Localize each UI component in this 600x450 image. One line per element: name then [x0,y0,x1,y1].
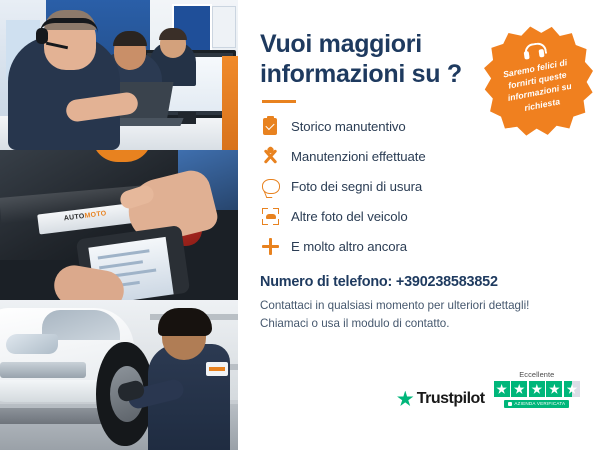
accent-underline [262,100,296,103]
phone-number[interactable]: Numero di telefono: +390238583852 [260,274,576,290]
car-grille [0,362,86,378]
star-filled [546,381,562,397]
star-filled [511,381,527,397]
verified-label: AZIENDA VERIFICATA [514,401,565,406]
trustpilot-rating-label: Eccellente [519,370,554,379]
photo-strip: AUTOMOTO [0,0,238,450]
feature-label: Foto dei segni di usura [291,179,422,194]
page-title: Vuoi maggiori informazioni su ? [260,30,470,89]
trustpilot-score-block: Eccellente AZIENDA VERIFICATA [494,370,580,408]
star-filled [529,381,545,397]
mechanic-hair [158,308,212,336]
car-headlight [6,334,58,354]
check-icon [508,402,512,406]
contact-line-1: Contattaci in qualsiasi momento per ulte… [260,299,529,312]
feature-label: Manutenzioni effettuate [291,149,426,164]
speech-bubble-icon [260,177,281,196]
headline-line-1: Vuoi maggiori [260,30,422,58]
photo-vehicle-inspection: AUTOMOTO [0,150,238,300]
list-item-manutenzioni-effettuate[interactable]: Manutenzioni effettuate [260,147,576,166]
verified-business-badge: AZIENDA VERIFICATA [504,400,569,408]
clipboard-check-icon [260,117,281,136]
uniform-logo-patch [206,362,228,376]
starburst-text: Saremo felici di fornirti queste informa… [479,52,598,121]
star-filled [494,381,510,397]
headphone-earcup-left [524,51,530,60]
starburst-content: Saremo felici di fornirti queste informa… [475,19,600,145]
trustpilot-stars [494,381,580,397]
car-bumper [0,380,102,402]
contact-text: Contattaci in qualsiasi momento per ulte… [260,297,576,333]
trustpilot-rating[interactable]: Trustpilot Eccellente AZIENDA VERIFICATA [397,370,580,408]
feature-label: E molto altro ancora [291,239,407,254]
promo-starburst-badge: Saremo felici di fornirti queste informa… [475,19,600,145]
tools-cross-icon [260,147,281,166]
list-item-altre-foto-veicolo[interactable]: Altre foto del veicolo [260,207,576,226]
headphone-icon [522,42,546,61]
photo-call-center [0,0,238,150]
wall-poster-small [212,6,236,48]
sticker-label: AUTOMOTO [63,210,107,222]
screen-line [98,249,150,259]
trustpilot-star-icon [397,391,414,408]
feature-label: Altre foto del veicolo [291,209,408,224]
content-panel: Vuoi maggiori informazioni su ? Saremo f… [238,0,600,450]
list-item-molto-altro-ancora[interactable]: E molto altro ancora [260,237,576,256]
trustpilot-logo: Trustpilot [397,390,485,408]
plus-icon [260,237,281,256]
star-half [564,381,580,397]
screen-line [99,260,143,269]
info-request-banner: AUTOMOTO [0,0,600,450]
headline-line-2: informazioni su ? [260,60,462,88]
headset-band-icon [40,18,98,33]
feature-label: Storico manutentivo [291,119,406,134]
orange-equipment [222,56,238,150]
scan-car-icon [260,207,281,226]
trustpilot-brand-name: Trustpilot [417,390,485,408]
contact-line-2: Chiamaci o usa il modulo di contatto. [260,317,449,330]
photo-mechanic-garage [0,300,238,450]
headphone-earcup-right [539,49,545,58]
list-item-foto-segni-usura[interactable]: Foto dei segni di usura [260,177,576,196]
